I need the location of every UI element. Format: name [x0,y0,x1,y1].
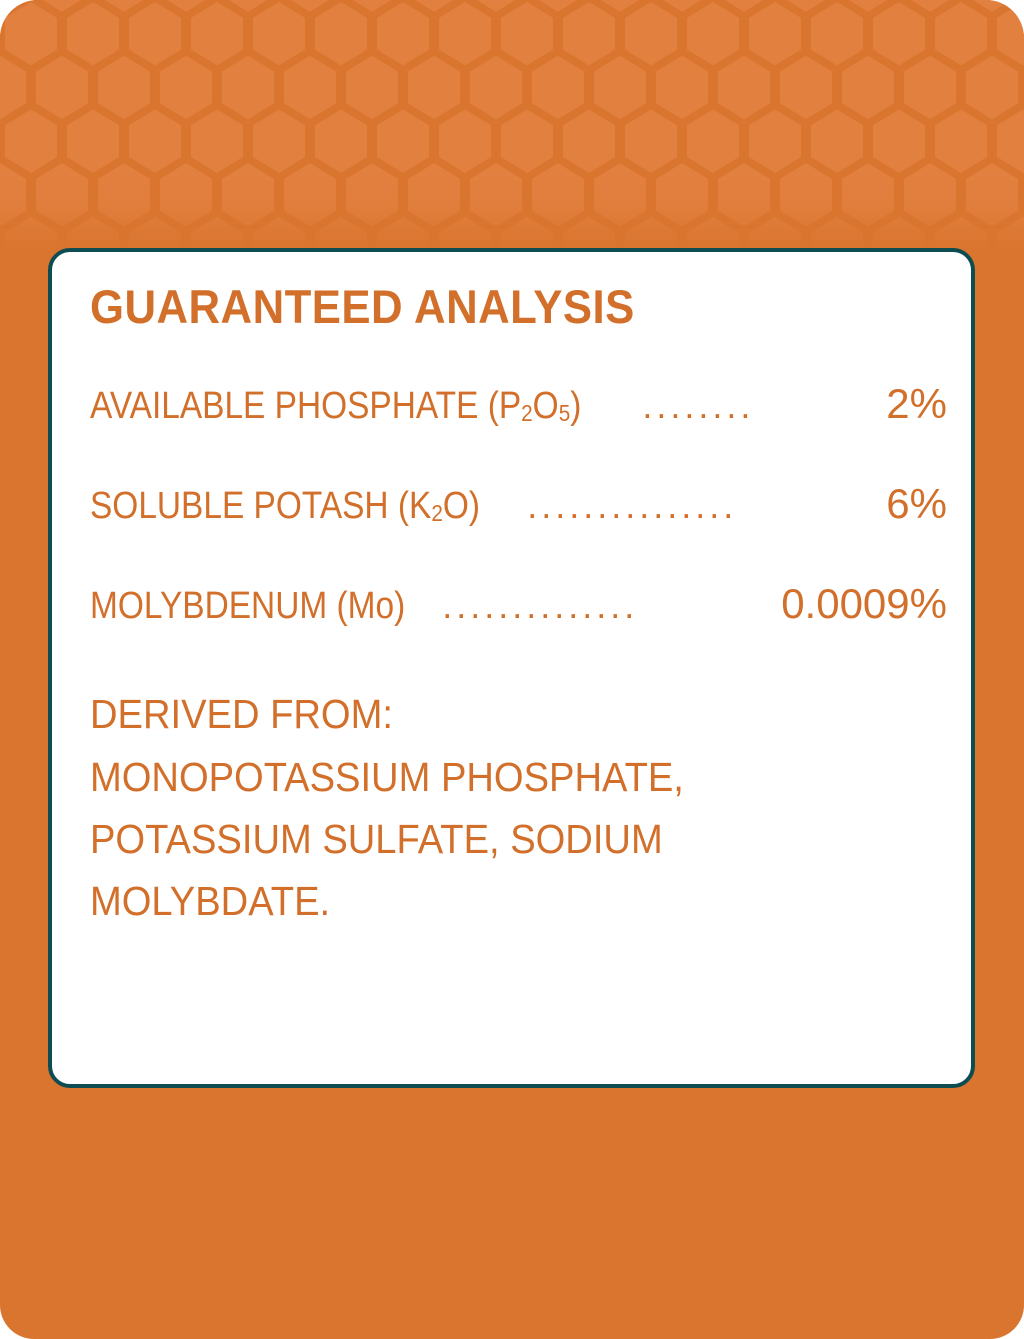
honeycomb-pattern-icon [0,0,1024,260]
nutrient-name-mid: O [443,485,469,527]
analysis-row-potash: SOLUBLE POTASH (K2O) ............... 6% [90,483,947,525]
analysis-list: AVAILABLE PHOSPHATE (P2O5) ........ 2% S… [90,383,947,625]
nutrient-subscript-1: 2 [431,500,443,526]
nutrient-subscript-1: 2 [521,400,533,426]
product-label: GUARANTEED ANALYSIS AVAILABLE PHOSPHATE … [0,0,1024,1339]
derived-from-line: MONOPOTASSIUM PHOSPHATE, [90,746,887,808]
derived-from-heading: DERIVED FROM: [90,683,887,745]
analysis-value: 2% [878,383,947,425]
nutrient-name-mid: O [533,385,559,427]
derived-from-line: POTASSIUM SULFATE, SODIUM [90,808,887,870]
analysis-value: 0.0009% [773,583,947,625]
analysis-nutrient-name: MOLYBDENUM (Mo) [90,587,405,625]
analysis-nutrient-name: SOLUBLE POTASH (K2O) [90,487,480,525]
nutrient-name-prefix: SOLUBLE POTASH (K [90,485,431,527]
analysis-nutrient-name: AVAILABLE PHOSPHATE (P2O5) [90,387,581,425]
nutrient-name-prefix: AVAILABLE PHOSPHATE (P [90,385,521,427]
analysis-row-phosphate: AVAILABLE PHOSPHATE (P2O5) ........ 2% [90,383,947,425]
guaranteed-analysis-card: GUARANTEED ANALYSIS AVAILABLE PHOSPHATE … [48,248,975,1088]
label-background-panel: GUARANTEED ANALYSIS AVAILABLE PHOSPHATE … [0,0,1024,1339]
derived-from-block: DERIVED FROM: MONOPOTASSIUM PHOSPHATE, P… [90,683,947,932]
nutrient-name-suffix: ) [570,385,581,427]
nutrient-name-suffix: ) [394,585,405,627]
analysis-row-molybdenum: MOLYBDENUM (Mo) .............. 0.0009% [90,583,947,625]
derived-from-line: MOLYBDATE. [90,870,887,932]
page-title: GUARANTEED ANALYSIS [90,282,887,331]
leader-dots: ........ [642,388,878,424]
nutrient-name-suffix: ) [469,485,480,527]
leader-dots: .............. [442,588,773,624]
leader-dots: ............... [527,488,878,524]
nutrient-name-prefix: MOLYBDENUM (Mo [90,585,394,627]
analysis-value: 6% [878,483,947,525]
nutrient-subscript-2: 5 [559,400,571,426]
